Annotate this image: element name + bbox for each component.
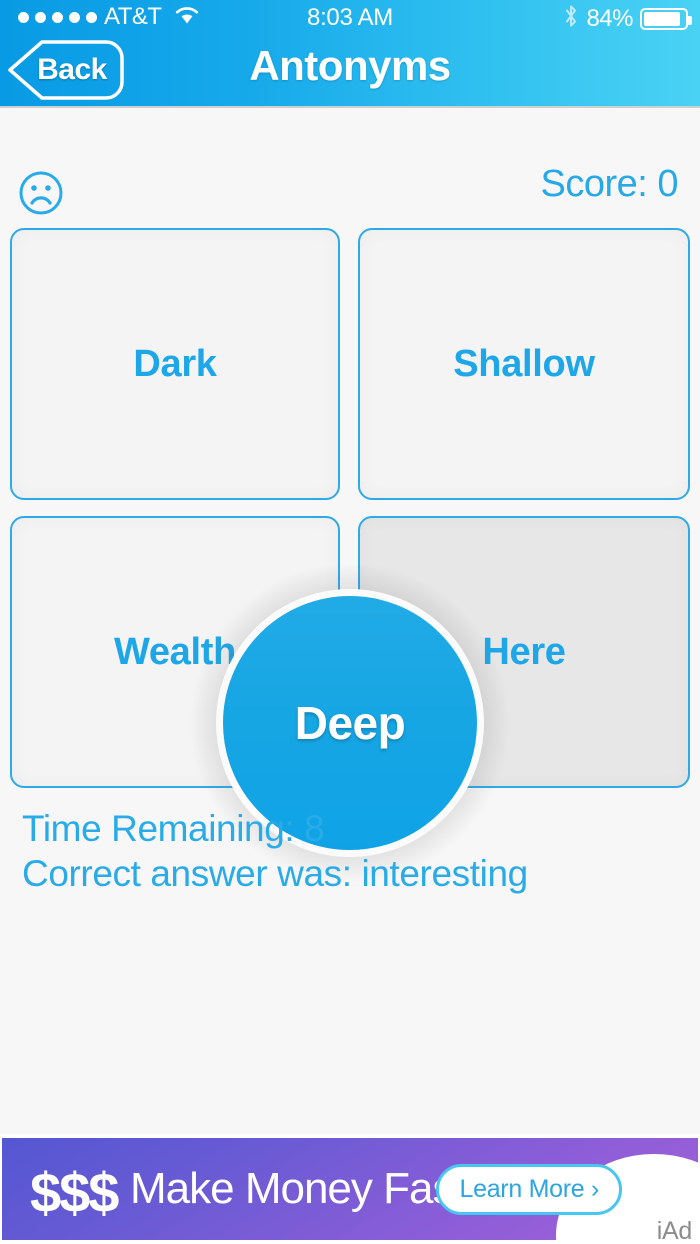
answer-tile-0[interactable]: Dark bbox=[10, 228, 340, 500]
answer-tile-label: Here bbox=[482, 631, 565, 674]
sad-face-icon bbox=[17, 169, 65, 222]
status-bar-right: 84% bbox=[563, 4, 688, 33]
answer-tile-label: Dark bbox=[133, 343, 216, 386]
ad-banner[interactable]: $$$ Make Money Faster Learn More › iAd bbox=[0, 1134, 700, 1244]
score-row: Score: 0 bbox=[0, 165, 700, 223]
battery-icon bbox=[640, 8, 688, 30]
answer-grid: Dark Shallow Wealth Here Deep bbox=[0, 228, 700, 788]
battery-percent-label: 84% bbox=[586, 5, 633, 33]
back-button-label: Back bbox=[23, 53, 107, 87]
time-remaining-label: Time Remaining: 8 bbox=[22, 806, 682, 851]
ad-content[interactable]: $$$ Make Money Faster Learn More › bbox=[2, 1138, 698, 1240]
bluetooth-icon bbox=[563, 4, 579, 33]
app-screen: AT&T 8:03 AM 84% bbox=[0, 0, 700, 1244]
game-status-lines: Time Remaining: 8 Correct answer was: in… bbox=[22, 806, 682, 896]
center-word-label: Deep bbox=[295, 696, 405, 750]
status-bar: AT&T 8:03 AM 84% bbox=[0, 0, 700, 36]
nav-header: AT&T 8:03 AM 84% bbox=[0, 0, 700, 108]
ad-network-label: iAd bbox=[657, 1217, 692, 1244]
dollar-signs-icon: $$$ bbox=[30, 1160, 117, 1225]
answer-tile-label: Wealth bbox=[114, 631, 236, 674]
score-label: Score: 0 bbox=[540, 163, 678, 206]
answer-tile-label: Shallow bbox=[453, 343, 594, 386]
answer-tile-1[interactable]: Shallow bbox=[358, 228, 690, 500]
correct-answer-label: Correct answer was: interesting bbox=[22, 851, 682, 896]
learn-more-button[interactable]: Learn More › bbox=[436, 1164, 622, 1215]
